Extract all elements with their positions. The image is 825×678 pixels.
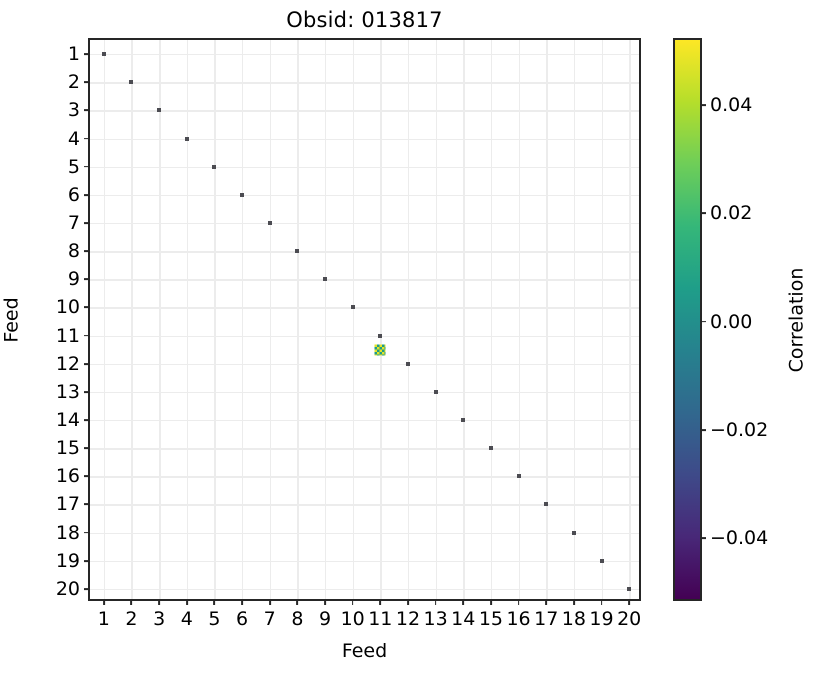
y-axis-tick	[84, 307, 90, 309]
y-axis-tick	[84, 391, 90, 393]
x-axis-tick	[186, 599, 188, 605]
y-axis-tick	[84, 222, 90, 224]
y-axis-tick	[84, 53, 90, 55]
colorbar-gradient	[675, 40, 700, 599]
y-axis-tick-label: 15	[56, 437, 80, 459]
y-axis-tick	[84, 532, 90, 534]
x-axis-tick	[462, 599, 464, 605]
y-axis-tick	[84, 278, 90, 280]
x-axis-tick	[407, 599, 409, 605]
heatmap-cell	[517, 474, 521, 478]
y-axis-tick	[84, 419, 90, 421]
heatmap-cell	[157, 108, 161, 112]
x-axis-tick-label: 1	[98, 608, 110, 630]
y-axis-tick-label: 2	[68, 71, 80, 93]
x-axis-tick-label: 5	[208, 608, 220, 630]
colorbar-tick-label: 0.02	[710, 202, 752, 224]
heatmap-cell	[489, 446, 493, 450]
y-axis-tick	[84, 166, 90, 168]
y-axis-tick	[84, 250, 90, 252]
y-axis-tick-label: 9	[68, 268, 80, 290]
page-title: Obsid: 013817	[88, 8, 641, 32]
y-axis-tick	[84, 81, 90, 83]
heatmap-plot-area: 1234567891011121314151617181920123456789…	[88, 38, 641, 601]
heatmap-cell	[129, 80, 133, 84]
heatmap-cell	[102, 52, 106, 56]
y-axis-tick-label: 8	[68, 240, 80, 262]
y-axis-tick-label: 5	[68, 156, 80, 178]
heatmap-cell-highlight	[375, 344, 386, 355]
heatmap-cell	[406, 362, 410, 366]
colorbar-tick	[700, 321, 706, 323]
y-axis-tick-label: 16	[56, 465, 80, 487]
y-axis-tick	[84, 560, 90, 562]
y-axis-tick-label: 7	[68, 212, 80, 234]
y-axis-tick	[84, 475, 90, 477]
x-axis-tick	[296, 599, 298, 605]
heatmap-cell	[240, 193, 244, 197]
y-axis-tick	[84, 504, 90, 506]
y-axis-label: Feed	[0, 38, 24, 601]
y-axis-tick-label: 12	[56, 353, 80, 375]
heatmap-cell	[323, 277, 327, 281]
colorbar-tick-label: −0.02	[710, 419, 768, 441]
heatmap-cell	[351, 305, 355, 309]
y-axis-tick-label: 17	[56, 493, 80, 515]
heatmap-cell	[544, 502, 548, 506]
x-axis-tick-label: 18	[562, 608, 586, 630]
heatmap-cell	[434, 390, 438, 394]
x-axis-tick-label: 9	[319, 608, 331, 630]
x-axis-tick-label: 7	[264, 608, 276, 630]
x-axis-tick-label: 2	[125, 608, 137, 630]
colorbar: 0.040.020.00−0.02−0.04	[673, 38, 702, 601]
x-axis-tick	[158, 599, 160, 605]
y-axis-tick-label: 1	[68, 43, 80, 65]
heatmap-cells	[90, 40, 639, 599]
x-axis-tick	[573, 599, 575, 605]
heatmap-cell	[212, 165, 216, 169]
y-axis-tick-label: 14	[56, 409, 80, 431]
x-axis-tick	[545, 599, 547, 605]
x-axis-label: Feed	[88, 640, 641, 662]
y-axis-tick	[84, 363, 90, 365]
x-axis-tick-label: 19	[589, 608, 613, 630]
x-axis-tick	[435, 599, 437, 605]
colorbar-tick-label: 0.04	[710, 94, 752, 116]
y-axis-tick	[84, 447, 90, 449]
colorbar-tick-label: 0.00	[710, 311, 752, 333]
colorbar-label-text: Correlation	[785, 267, 807, 372]
x-axis-tick	[601, 599, 603, 605]
y-axis-tick-label: 3	[68, 99, 80, 121]
x-axis-tick-label: 14	[451, 608, 475, 630]
x-axis-tick-label: 12	[396, 608, 420, 630]
x-axis-tick	[103, 599, 105, 605]
x-axis-tick	[352, 599, 354, 605]
x-axis-tick-label: 8	[291, 608, 303, 630]
x-axis-tick	[490, 599, 492, 605]
colorbar-tick	[700, 429, 706, 431]
x-axis-tick	[269, 599, 271, 605]
x-axis-tick-label: 13	[424, 608, 448, 630]
x-axis-tick-label: 15	[479, 608, 503, 630]
colorbar-tick	[700, 537, 706, 539]
y-axis-tick-label: 13	[56, 381, 80, 403]
x-axis-tick	[518, 599, 520, 605]
y-axis-tick	[84, 138, 90, 140]
x-axis-tick	[214, 599, 216, 605]
y-axis-tick-label: 10	[56, 296, 80, 318]
y-axis-tick	[84, 194, 90, 196]
x-axis-tick-label: 17	[534, 608, 558, 630]
heatmap-cell	[627, 587, 631, 591]
x-axis-tick-label: 16	[506, 608, 530, 630]
heatmap-cell	[295, 249, 299, 253]
colorbar-tick	[700, 212, 706, 214]
heatmap-cell	[600, 559, 604, 563]
colorbar-tick-label: −0.04	[710, 527, 768, 549]
y-axis-tick-label: 4	[68, 128, 80, 150]
heatmap-cell	[461, 418, 465, 422]
y-axis-tick	[84, 335, 90, 337]
heatmap-cell	[185, 137, 189, 141]
y-axis-tick	[84, 588, 90, 590]
x-axis-tick-label: 20	[617, 608, 641, 630]
x-axis-tick	[379, 599, 381, 605]
x-axis-tick-label: 3	[153, 608, 165, 630]
y-axis-tick-label: 19	[56, 550, 80, 572]
y-axis-tick-label: 20	[56, 578, 80, 600]
x-axis-tick	[241, 599, 243, 605]
x-axis-tick-label: 11	[368, 608, 392, 630]
y-axis-tick-label: 18	[56, 522, 80, 544]
x-axis-tick-label: 10	[341, 608, 365, 630]
colorbar-label: Correlation	[783, 38, 809, 601]
y-axis-tick-label: 6	[68, 184, 80, 206]
heatmap-cell	[268, 221, 272, 225]
y-axis-tick	[84, 109, 90, 111]
colorbar-tick	[700, 104, 706, 106]
x-axis-tick	[324, 599, 326, 605]
x-axis-tick	[628, 599, 630, 605]
x-axis-tick	[131, 599, 133, 605]
heatmap-cell	[572, 531, 576, 535]
y-axis-label-text: Feed	[1, 297, 23, 342]
x-axis-tick-label: 6	[236, 608, 248, 630]
y-axis-tick-label: 11	[56, 325, 80, 347]
heatmap-cell	[378, 334, 382, 338]
x-axis-tick-label: 4	[181, 608, 193, 630]
